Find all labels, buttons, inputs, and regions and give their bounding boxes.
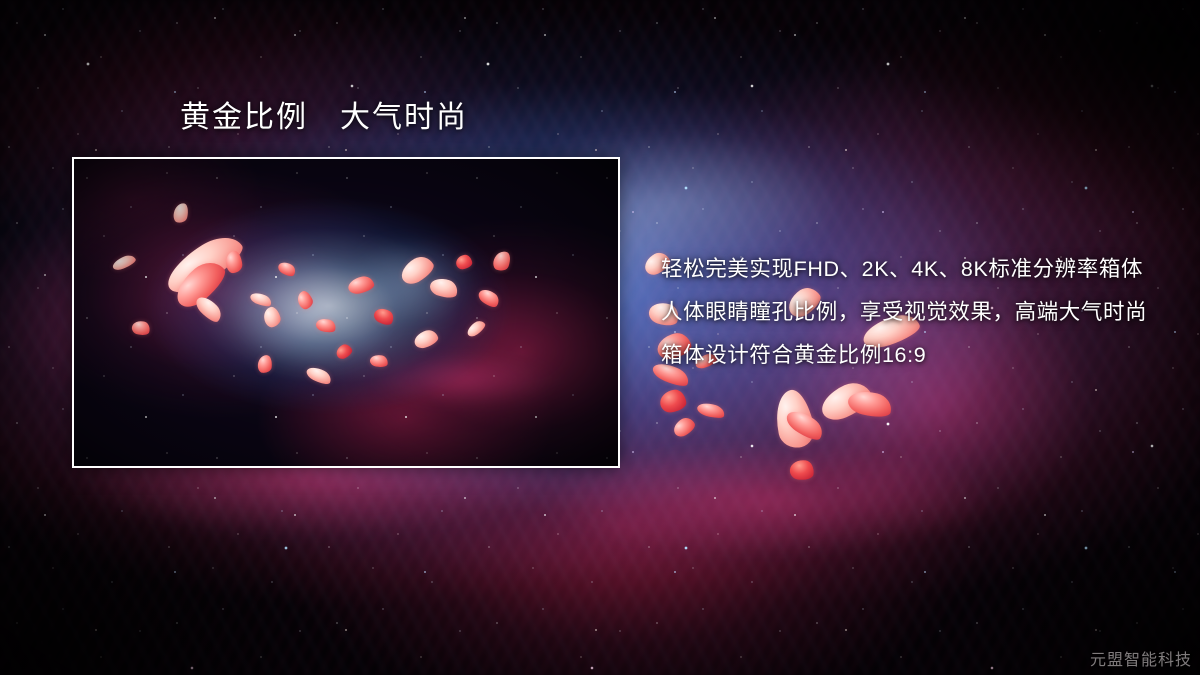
description-line: 箱体设计符合黄金比例16:9	[661, 342, 1161, 368]
image-vignette	[74, 159, 618, 466]
description-block: 轻松完美实现FHD、2K、4K、8K标准分辨率箱体 人体眼睛瞳孔比例，享受视觉效…	[661, 256, 1161, 368]
description-line: 人体眼睛瞳孔比例，享受视觉效果，高端大气时尚	[661, 299, 1161, 325]
product-image-frame[interactable]	[72, 157, 620, 468]
watermark-text: 元盟智能科技	[1090, 646, 1192, 670]
page-title: 黄金比例 大气时尚	[180, 101, 468, 135]
presentation-slide: 黄金比例 大气时尚	[0, 0, 1200, 675]
product-image	[74, 159, 618, 466]
description-line: 轻松完美实现FHD、2K、4K、8K标准分辨率箱体	[661, 256, 1161, 282]
